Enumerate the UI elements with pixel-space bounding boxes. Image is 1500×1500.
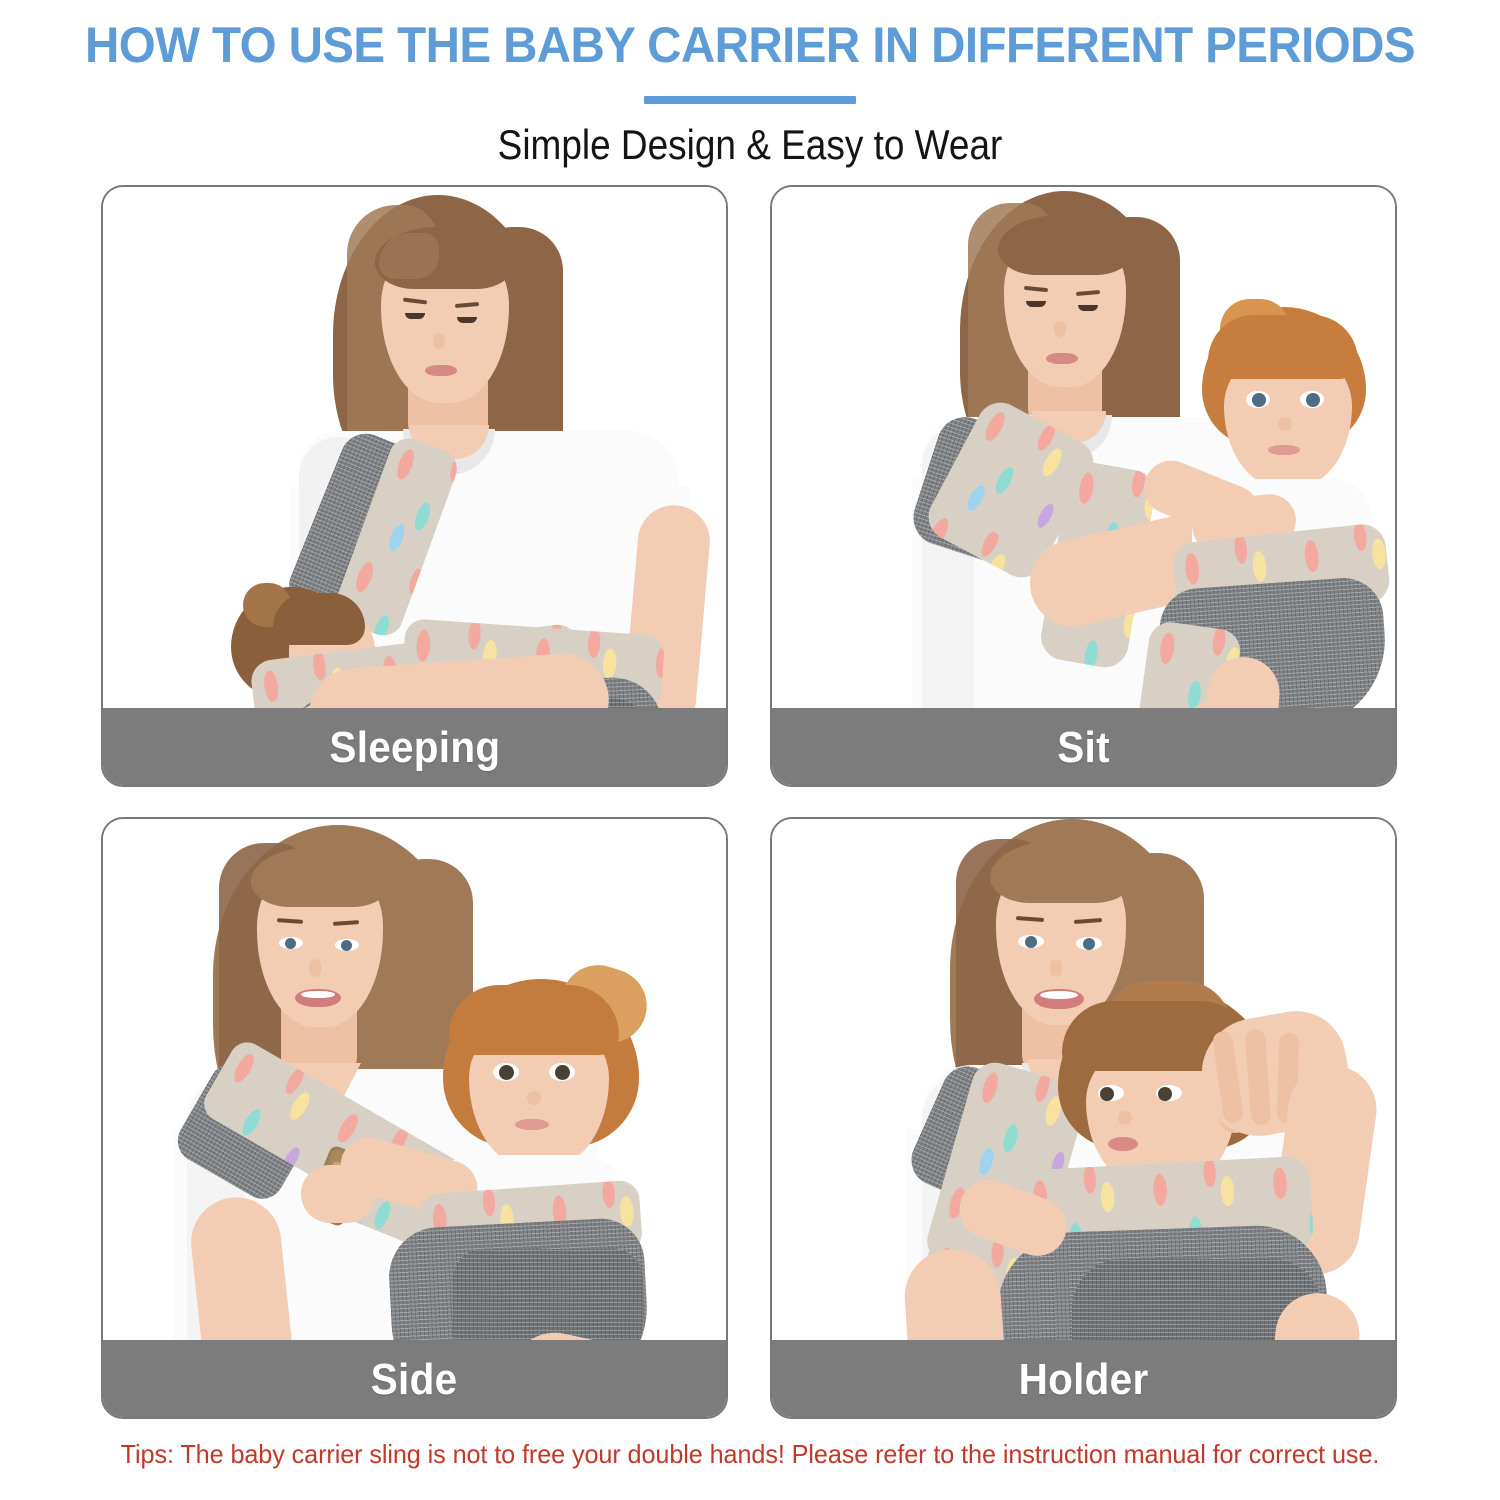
card-label-holder: Holder (1019, 1355, 1149, 1405)
carrier-positions-grid: Sleeping (101, 185, 1397, 1419)
page-subtitle: Simple Design & Easy to Wear (90, 104, 1410, 170)
card-holder[interactable]: Holder (770, 817, 1397, 1419)
title-underline-rule (644, 96, 856, 104)
card-sleeping[interactable]: Sleeping (101, 185, 728, 787)
label-bar-sleeping: Sleeping (101, 708, 728, 787)
photo-side (103, 819, 726, 1344)
card-sit[interactable]: Sit (770, 185, 1397, 787)
label-bar-holder: Holder (770, 1340, 1397, 1419)
header: HOW TO USE THE BABY CARRIER IN DIFFERENT… (0, 0, 1500, 170)
photo-sit (772, 187, 1395, 712)
photo-sleeping (103, 187, 726, 712)
tips-note: Tips: The baby carrier sling is not to f… (23, 1437, 1478, 1471)
photo-holder (772, 819, 1395, 1344)
page-title: HOW TO USE THE BABY CARRIER IN DIFFERENT… (38, 0, 1463, 74)
card-label-sleeping: Sleeping (329, 723, 500, 773)
card-label-side: Side (371, 1355, 458, 1405)
label-bar-sit: Sit (770, 708, 1397, 787)
label-bar-side: Side (101, 1340, 728, 1419)
card-label-sit: Sit (1057, 723, 1110, 773)
card-side[interactable]: Side (101, 817, 728, 1419)
